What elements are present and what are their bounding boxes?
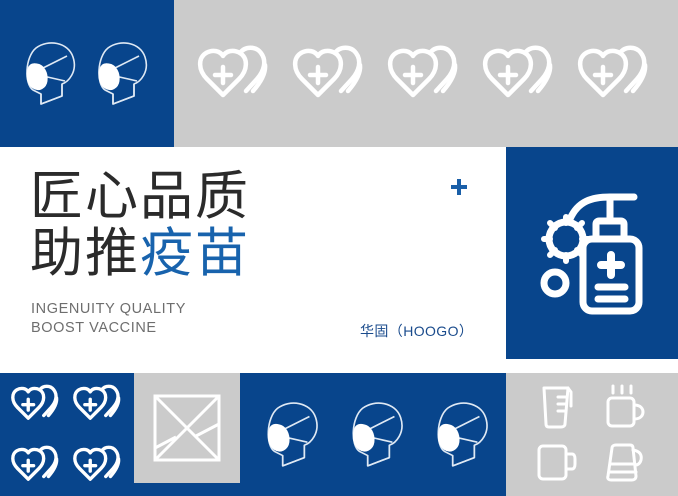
measuring-beaker-icon (536, 384, 576, 430)
double-heart-plus-icon (193, 43, 279, 105)
masked-face-icon (20, 38, 82, 110)
bottom-mask-icon-row (250, 373, 506, 496)
poster-canvas: 匠心品质 助推疫苗 INGENUITY QUALITY BOOST VACCIN… (0, 0, 678, 496)
top-mask-icon-row (0, 0, 174, 147)
subtitle-english: INGENUITY QUALITY BOOST VACCINE (31, 300, 186, 338)
masked-face-icon (431, 398, 495, 472)
broken-image-placeholder-wrap (134, 373, 240, 483)
broken-image-placeholder-icon (152, 393, 222, 463)
masked-face-icon (346, 398, 410, 472)
headline-line-1: 匠心品质 (30, 168, 360, 225)
headline-block: 匠心品质 助推疫苗 (30, 168, 360, 282)
double-heart-plus-icon (573, 43, 659, 105)
headline-line-2-dark: 助推 (30, 224, 140, 283)
double-heart-plus-icon (70, 443, 128, 487)
double-heart-plus-icon (478, 43, 564, 105)
double-heart-plus-icon (8, 382, 66, 426)
brand-name: 华固（HOOGO） (360, 321, 473, 341)
steaming-mug-icon (601, 383, 645, 431)
headline-line-2-accent: 疫苗 (140, 224, 250, 283)
double-heart-plus-icon (383, 43, 469, 105)
bottom-heart-icon-grid (6, 373, 130, 496)
headline-line-2: 助推疫苗 (30, 225, 360, 282)
hand-sanitizer-bottle-icon (530, 183, 654, 323)
medical-plus-icon (449, 177, 469, 197)
plain-mug-icon (534, 441, 578, 483)
masked-face-icon (92, 38, 154, 110)
teapot-icon (600, 440, 646, 484)
masked-face-icon (261, 398, 325, 472)
double-heart-plus-icon (70, 382, 128, 426)
double-heart-plus-icon (8, 443, 66, 487)
bottom-cup-icon-grid (516, 373, 672, 496)
sanitizer-icon-wrap (506, 147, 678, 359)
double-heart-plus-icon (288, 43, 374, 105)
top-heart-icon-row (174, 0, 678, 147)
